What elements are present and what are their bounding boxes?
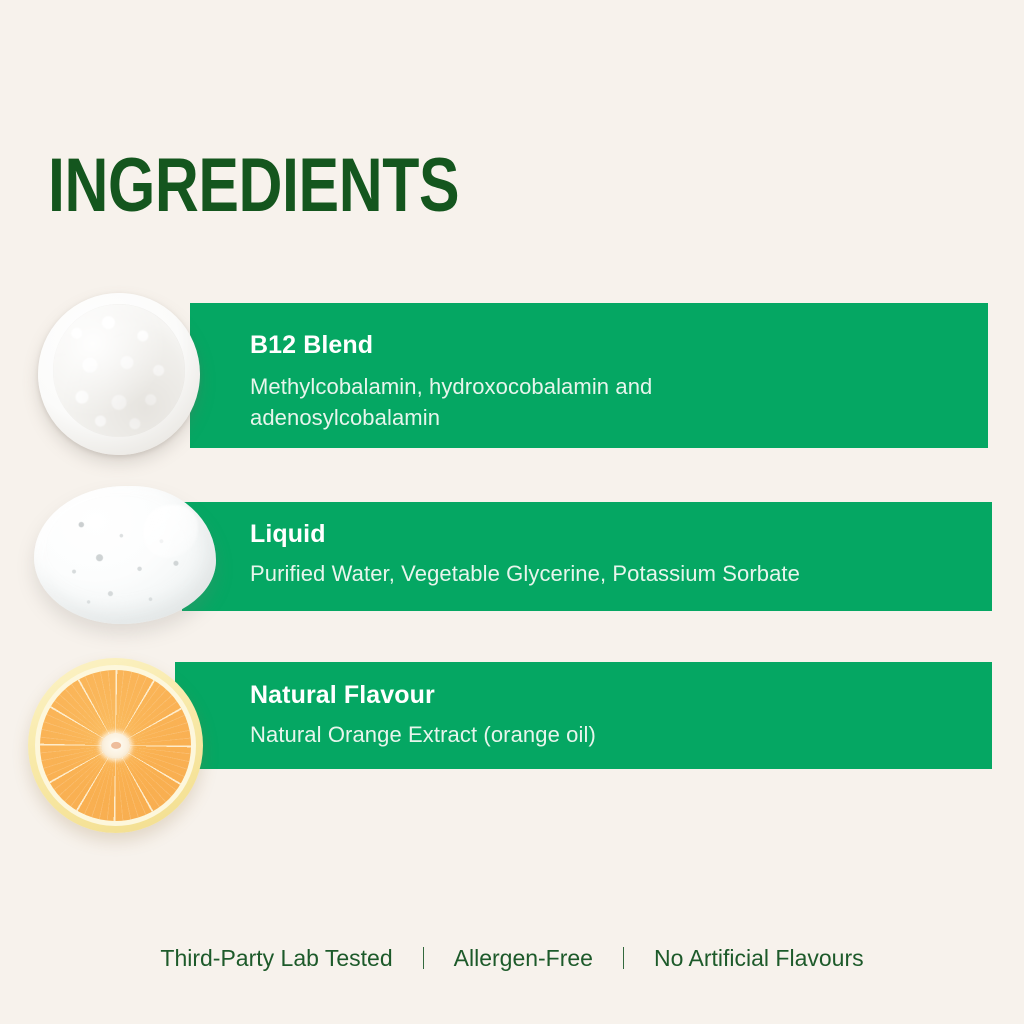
ingredient-description: Natural Orange Extract (orange oil) (250, 719, 596, 750)
ingredients-panel: INGREDIENTS B12 Blend Methylcobalamin, h… (0, 0, 1024, 1024)
ingredient-row-b12-blend: B12 Blend Methylcobalamin, hydroxocobala… (190, 303, 988, 448)
ingredient-description: Methylcobalamin, hydroxocobalamin and ad… (250, 371, 810, 433)
gel-bubbles (34, 486, 216, 624)
page-title: INGREDIENTS (48, 148, 459, 224)
powder-fill (53, 304, 186, 437)
ingredient-name: B12 Blend (250, 330, 810, 360)
claim-no-artificial-flavours: No Artificial Flavours (654, 944, 864, 972)
ingredient-row-liquid: Liquid Purified Water, Vegetable Glyceri… (182, 502, 992, 611)
orange-slice-icon (28, 658, 203, 833)
ingredient-name: Natural Flavour (250, 680, 596, 710)
gel-blob (34, 486, 216, 624)
ingredient-row-natural-flavour: Natural Flavour Natural Orange Extract (… (175, 662, 992, 769)
liquid-drop-icon (30, 482, 220, 630)
claim-third-party-lab-tested: Third-Party Lab Tested (160, 944, 392, 972)
claim-separator: | (623, 947, 624, 969)
ingredient-text-block: B12 Blend Methylcobalamin, hydroxocobala… (250, 330, 810, 433)
bowl-inner (53, 304, 186, 437)
ingredient-name: Liquid (250, 519, 800, 549)
ingredient-text-block: Liquid Purified Water, Vegetable Glyceri… (250, 519, 800, 589)
ingredient-text-block: Natural Flavour Natural Orange Extract (… (250, 680, 596, 750)
powder-bowl-icon (38, 293, 200, 455)
orange-core (101, 732, 131, 758)
footer-claims: Third-Party Lab Tested | Allergen-Free |… (0, 944, 1024, 972)
claim-separator: | (423, 947, 424, 969)
claim-allergen-free: Allergen-Free (454, 944, 593, 972)
ingredient-description: Purified Water, Vegetable Glycerine, Pot… (250, 558, 800, 589)
